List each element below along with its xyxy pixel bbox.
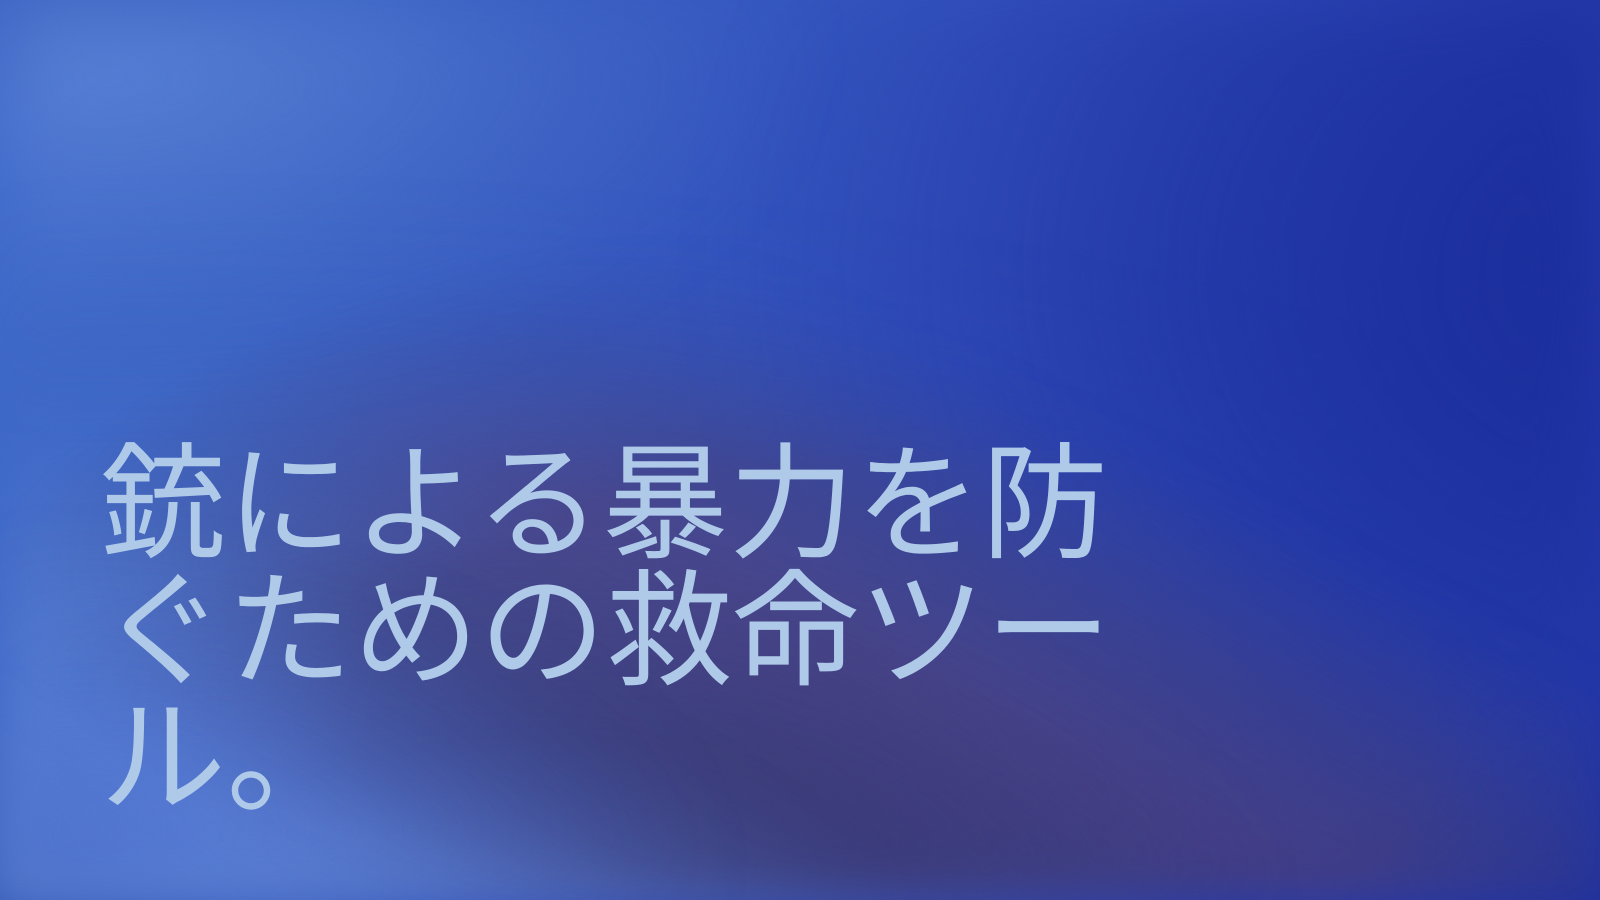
hero-banner: 銃による暴力を防 ぐための救命ツー ル。 bbox=[0, 0, 1600, 900]
hero-headline: 銃による暴力を防 ぐための救命ツー ル。 bbox=[100, 441, 1220, 822]
